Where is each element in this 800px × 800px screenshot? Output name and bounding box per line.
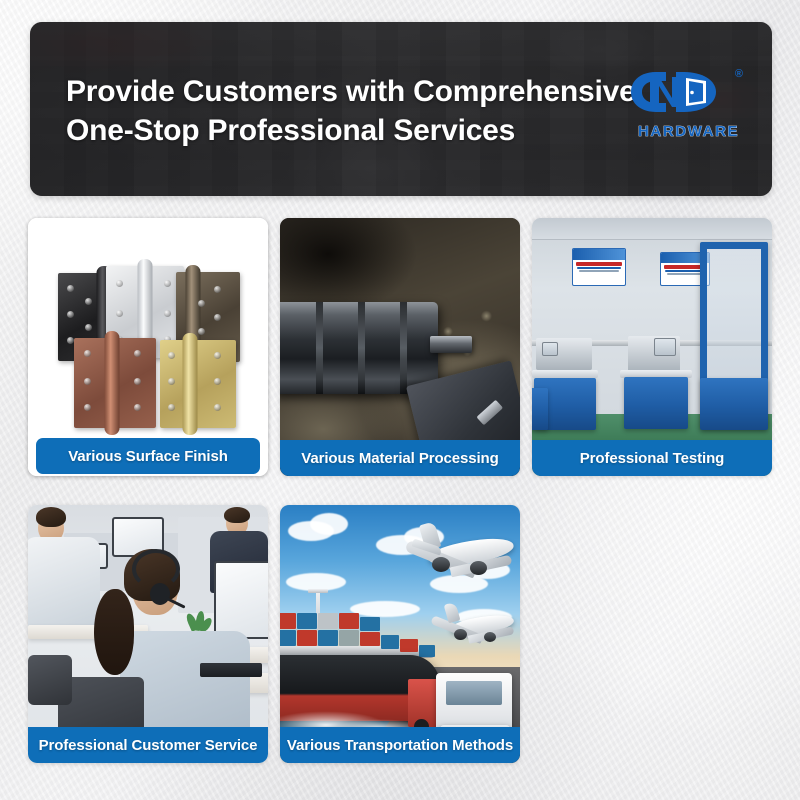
service-card-grid: Product Drawing Design Various Material [28,218,772,763]
card-label-various-material-processing: Various Material Processing [280,440,520,476]
service-card-various-transportation-methods[interactable]: Various Transportation Methods [280,505,520,763]
title-line-2: One-Stop Professional Services [66,111,666,150]
transportation-illustration [280,505,520,763]
keyboard [200,663,262,677]
card-label-various-surface-finish: Various Surface Finish [36,438,260,474]
airplane-large [398,519,520,585]
airplane-small [428,601,520,651]
foreground-monitor [214,561,268,639]
page-title: Provide Customers with Comprehensive One… [66,72,666,150]
cutting-bit [476,400,503,426]
logo-wordmark: HARDWARE [638,123,732,140]
call-center-illustration [28,505,268,763]
card-media-logistics [280,505,520,763]
truck-windshield [446,681,502,705]
hero-banner: Provide Customers with Comprehensive One… [30,22,772,196]
wall-sign-left [572,248,626,286]
logo-monogram-icon [626,68,744,116]
company-logo: ® HARDWARE [626,68,744,140]
card-media-testing-lab [532,218,772,476]
hinge-brass-finish [160,340,236,428]
card-label-professional-customer-service: Professional Customer Service [28,727,268,763]
card-label-professional-testing: Professional Testing [532,440,772,476]
testing-laboratory-illustration [532,218,772,476]
service-card-professional-customer-service[interactable]: Professional Customer Service [28,505,268,763]
service-card-professional-testing[interactable]: Professional Testing [532,218,772,476]
lathe-machining-illustration [280,218,520,476]
service-card-various-surface-finish[interactable]: Various Surface Finish [28,218,268,476]
service-card-various-material-processing[interactable]: Various Material Processing [280,218,520,476]
service-showcase-page: Provide Customers with Comprehensive One… [0,0,800,800]
card-label-various-transportation-methods: Various Transportation Methods [280,727,520,763]
workpiece-shaft [430,336,472,353]
card-media-lathe-machining [280,218,520,476]
machined-workpiece [280,302,438,394]
title-line-1: Provide Customers with Comprehensive [66,72,666,111]
registered-trademark-icon: ® [735,69,743,80]
card-media-call-center [28,505,268,763]
agent-ponytail [94,589,134,675]
headset-earcup-icon [150,583,170,605]
hinge-copper-finish [74,338,156,428]
machine-control-screen [654,338,676,356]
